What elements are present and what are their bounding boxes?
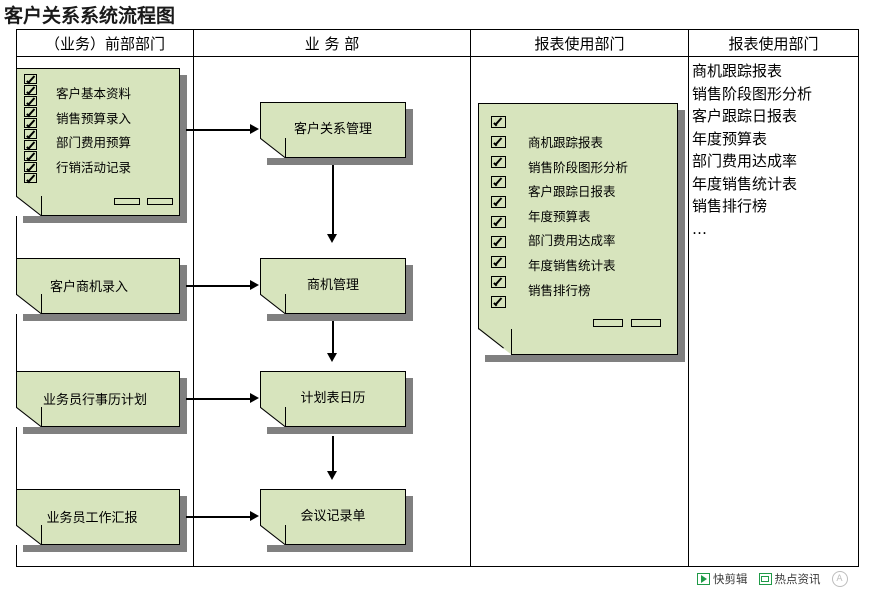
folded-corner <box>16 196 42 216</box>
report-usage-list: 商机跟踪报表 销售阶段图形分析 客户跟踪日报表 年度预算表 部门费用达成率 年度… <box>692 60 856 240</box>
report-field-label: 年度销售统计表 <box>528 254 628 279</box>
connector-calendar-plan-to-schedule <box>186 398 251 400</box>
arrow-head-right <box>250 393 259 403</box>
arrow-head-right <box>250 124 259 134</box>
checkbox-icon[interactable] <box>491 256 506 268</box>
box-label: 客户商机录入 <box>0 276 180 295</box>
connector-opportunity-entry-to-mgmt <box>186 285 251 287</box>
page-title: 客户关系系统流程图 <box>4 1 175 28</box>
business-department-box-crm[interactable]: 客户关系管理 <box>260 102 406 158</box>
report-list-item: 年度预算表 <box>692 128 856 151</box>
form-field-label: 客户基本资料 <box>56 88 131 101</box>
front-department-form-document[interactable]: 客户基本资料 销售预算录入 部门费用预算 行销活动记录 <box>16 68 180 216</box>
report-field-label: 部门费用达成率 <box>528 229 628 254</box>
connector-work-report-to-meeting <box>186 516 251 518</box>
folded-corner-vline <box>285 294 286 314</box>
connector-form-to-crm <box>186 129 251 131</box>
box-label: 会议记录单 <box>260 505 406 524</box>
table-header-cell-2: 业 务 部 <box>194 30 470 56</box>
table-header-cell-4: 报表使用部门 <box>689 30 858 56</box>
taskbar-item-hot-news[interactable]: 热点资讯 <box>759 571 821 587</box>
doc-button-1[interactable] <box>593 319 623 327</box>
business-department-box-schedule-calendar[interactable]: 计划表日历 <box>260 371 406 427</box>
report-list-item: 客户跟踪日报表 <box>692 105 856 128</box>
report-field-label: 销售排行榜 <box>528 279 628 304</box>
checkbox-icon[interactable] <box>491 276 506 288</box>
checkbox-icon[interactable] <box>24 140 37 150</box>
folded-corner-vline <box>285 407 286 427</box>
arrow-head-down <box>327 353 337 362</box>
report-list-item: 销售阶段图形分析 <box>692 83 856 106</box>
folded-corner-vline <box>41 294 42 314</box>
report-list-item: 销售排行榜 <box>692 195 856 218</box>
folded-corner-vline <box>511 329 512 355</box>
folded-corner <box>16 525 42 545</box>
report-list-item: … <box>692 218 856 241</box>
box-label: 商机管理 <box>260 274 406 293</box>
checkbox-icon[interactable] <box>491 116 506 128</box>
checkbox-icon[interactable] <box>24 85 37 95</box>
folded-corner <box>260 525 286 545</box>
checkbox-icon[interactable] <box>491 196 506 208</box>
folded-corner-vline <box>285 525 286 545</box>
box-label: 业务员工作汇报 <box>4 507 180 526</box>
business-department-box-meeting-minutes[interactable]: 会议记录单 <box>260 489 406 545</box>
doc-button-2[interactable] <box>631 319 661 327</box>
folded-corner-vline <box>41 196 42 216</box>
news-icon <box>759 573 772 585</box>
folded-corner <box>260 407 286 427</box>
checkbox-icon[interactable] <box>491 176 506 188</box>
checkbox-icon[interactable] <box>491 156 506 168</box>
doc-button-1[interactable] <box>114 198 140 205</box>
connector-crm-to-opportunity <box>332 165 334 235</box>
business-department-box-opportunity-mgmt[interactable]: 商机管理 <box>260 258 406 314</box>
folded-corner <box>16 407 42 427</box>
front-department-box-customer-opportunity[interactable]: 客户商机录入 <box>16 258 180 314</box>
report-field-label: 商机跟踪报表 <box>528 131 628 156</box>
report-field-label: 客户跟踪日报表 <box>528 180 628 205</box>
connector-opportunity-to-schedule <box>332 321 334 354</box>
table-header-cell-1: （业务）前部部门 <box>17 30 193 56</box>
checkbox-icon[interactable] <box>491 236 506 248</box>
checkbox-icon[interactable] <box>491 136 506 148</box>
folded-corner <box>260 138 286 158</box>
circle-a-icon[interactable]: A <box>832 571 848 587</box>
report-list-item: 部门费用达成率 <box>692 150 856 173</box>
arrow-head-down <box>327 471 337 480</box>
report-list-item: 商机跟踪报表 <box>692 60 856 83</box>
column-divider-1 <box>193 29 194 567</box>
report-department-document[interactable]: 商机跟踪报表 销售阶段图形分析 客户跟踪日报表 年度预算表 部门费用达成率 年度… <box>478 103 678 355</box>
form-field-label: 行销活动记录 <box>56 162 131 175</box>
column-divider-2 <box>470 29 471 567</box>
form-field-labels: 客户基本资料 销售预算录入 部门费用预算 行销活动记录 <box>56 88 131 174</box>
taskbar-item-label: 快剪辑 <box>713 571 748 587</box>
folded-corner-vline <box>41 407 42 427</box>
checkbox-icon[interactable] <box>24 173 37 183</box>
folded-corner <box>478 329 512 355</box>
checkbox-icon[interactable] <box>24 162 37 172</box>
arrow-head-down <box>327 234 337 243</box>
front-department-box-salesperson-calendar-plan[interactable]: 业务员行事历计划 <box>16 371 180 427</box>
checkbox-column <box>24 74 37 184</box>
checkbox-icon[interactable] <box>491 296 506 308</box>
taskbar-item-quick-edit[interactable]: 快剪辑 <box>697 571 748 587</box>
checkbox-column <box>491 116 506 309</box>
bottom-taskbar: 快剪辑 热点资讯 A <box>697 570 848 588</box>
doc-button-2[interactable] <box>147 198 173 205</box>
report-field-label: 销售阶段图形分析 <box>528 156 628 181</box>
front-department-box-salesperson-work-report[interactable]: 业务员工作汇报 <box>16 489 180 545</box>
checkbox-icon[interactable] <box>24 107 37 117</box>
taskbar-item-label: 热点资讯 <box>775 571 821 587</box>
checkbox-icon[interactable] <box>24 96 37 106</box>
column-divider-3 <box>688 29 689 567</box>
box-label: 计划表日历 <box>260 387 406 406</box>
arrow-head-right <box>250 511 259 521</box>
form-field-label: 销售预算录入 <box>56 113 131 126</box>
folded-corner <box>260 294 286 314</box>
table-header-cell-3: 报表使用部门 <box>471 30 688 56</box>
folded-corner-vline <box>41 525 42 545</box>
connector-schedule-to-meeting <box>332 436 334 472</box>
checkbox-icon[interactable] <box>491 216 506 228</box>
folded-corner-vline <box>285 138 286 158</box>
checkbox-icon[interactable] <box>24 74 37 84</box>
play-icon <box>697 573 710 585</box>
arrow-head-right <box>250 280 259 290</box>
folded-corner <box>16 294 42 314</box>
report-field-labels: 商机跟踪报表 销售阶段图形分析 客户跟踪日报表 年度预算表 部门费用达成率 年度… <box>528 131 628 303</box>
checkbox-icon[interactable] <box>24 151 37 161</box>
box-label: 客户关系管理 <box>260 118 406 137</box>
report-field-label: 年度预算表 <box>528 205 628 230</box>
box-label: 业务员行事历计划 <box>10 389 180 408</box>
report-list-item: 年度销售统计表 <box>692 173 856 196</box>
checkbox-icon[interactable] <box>24 129 37 139</box>
checkbox-icon[interactable] <box>24 118 37 128</box>
form-field-label: 部门费用预算 <box>56 137 131 150</box>
